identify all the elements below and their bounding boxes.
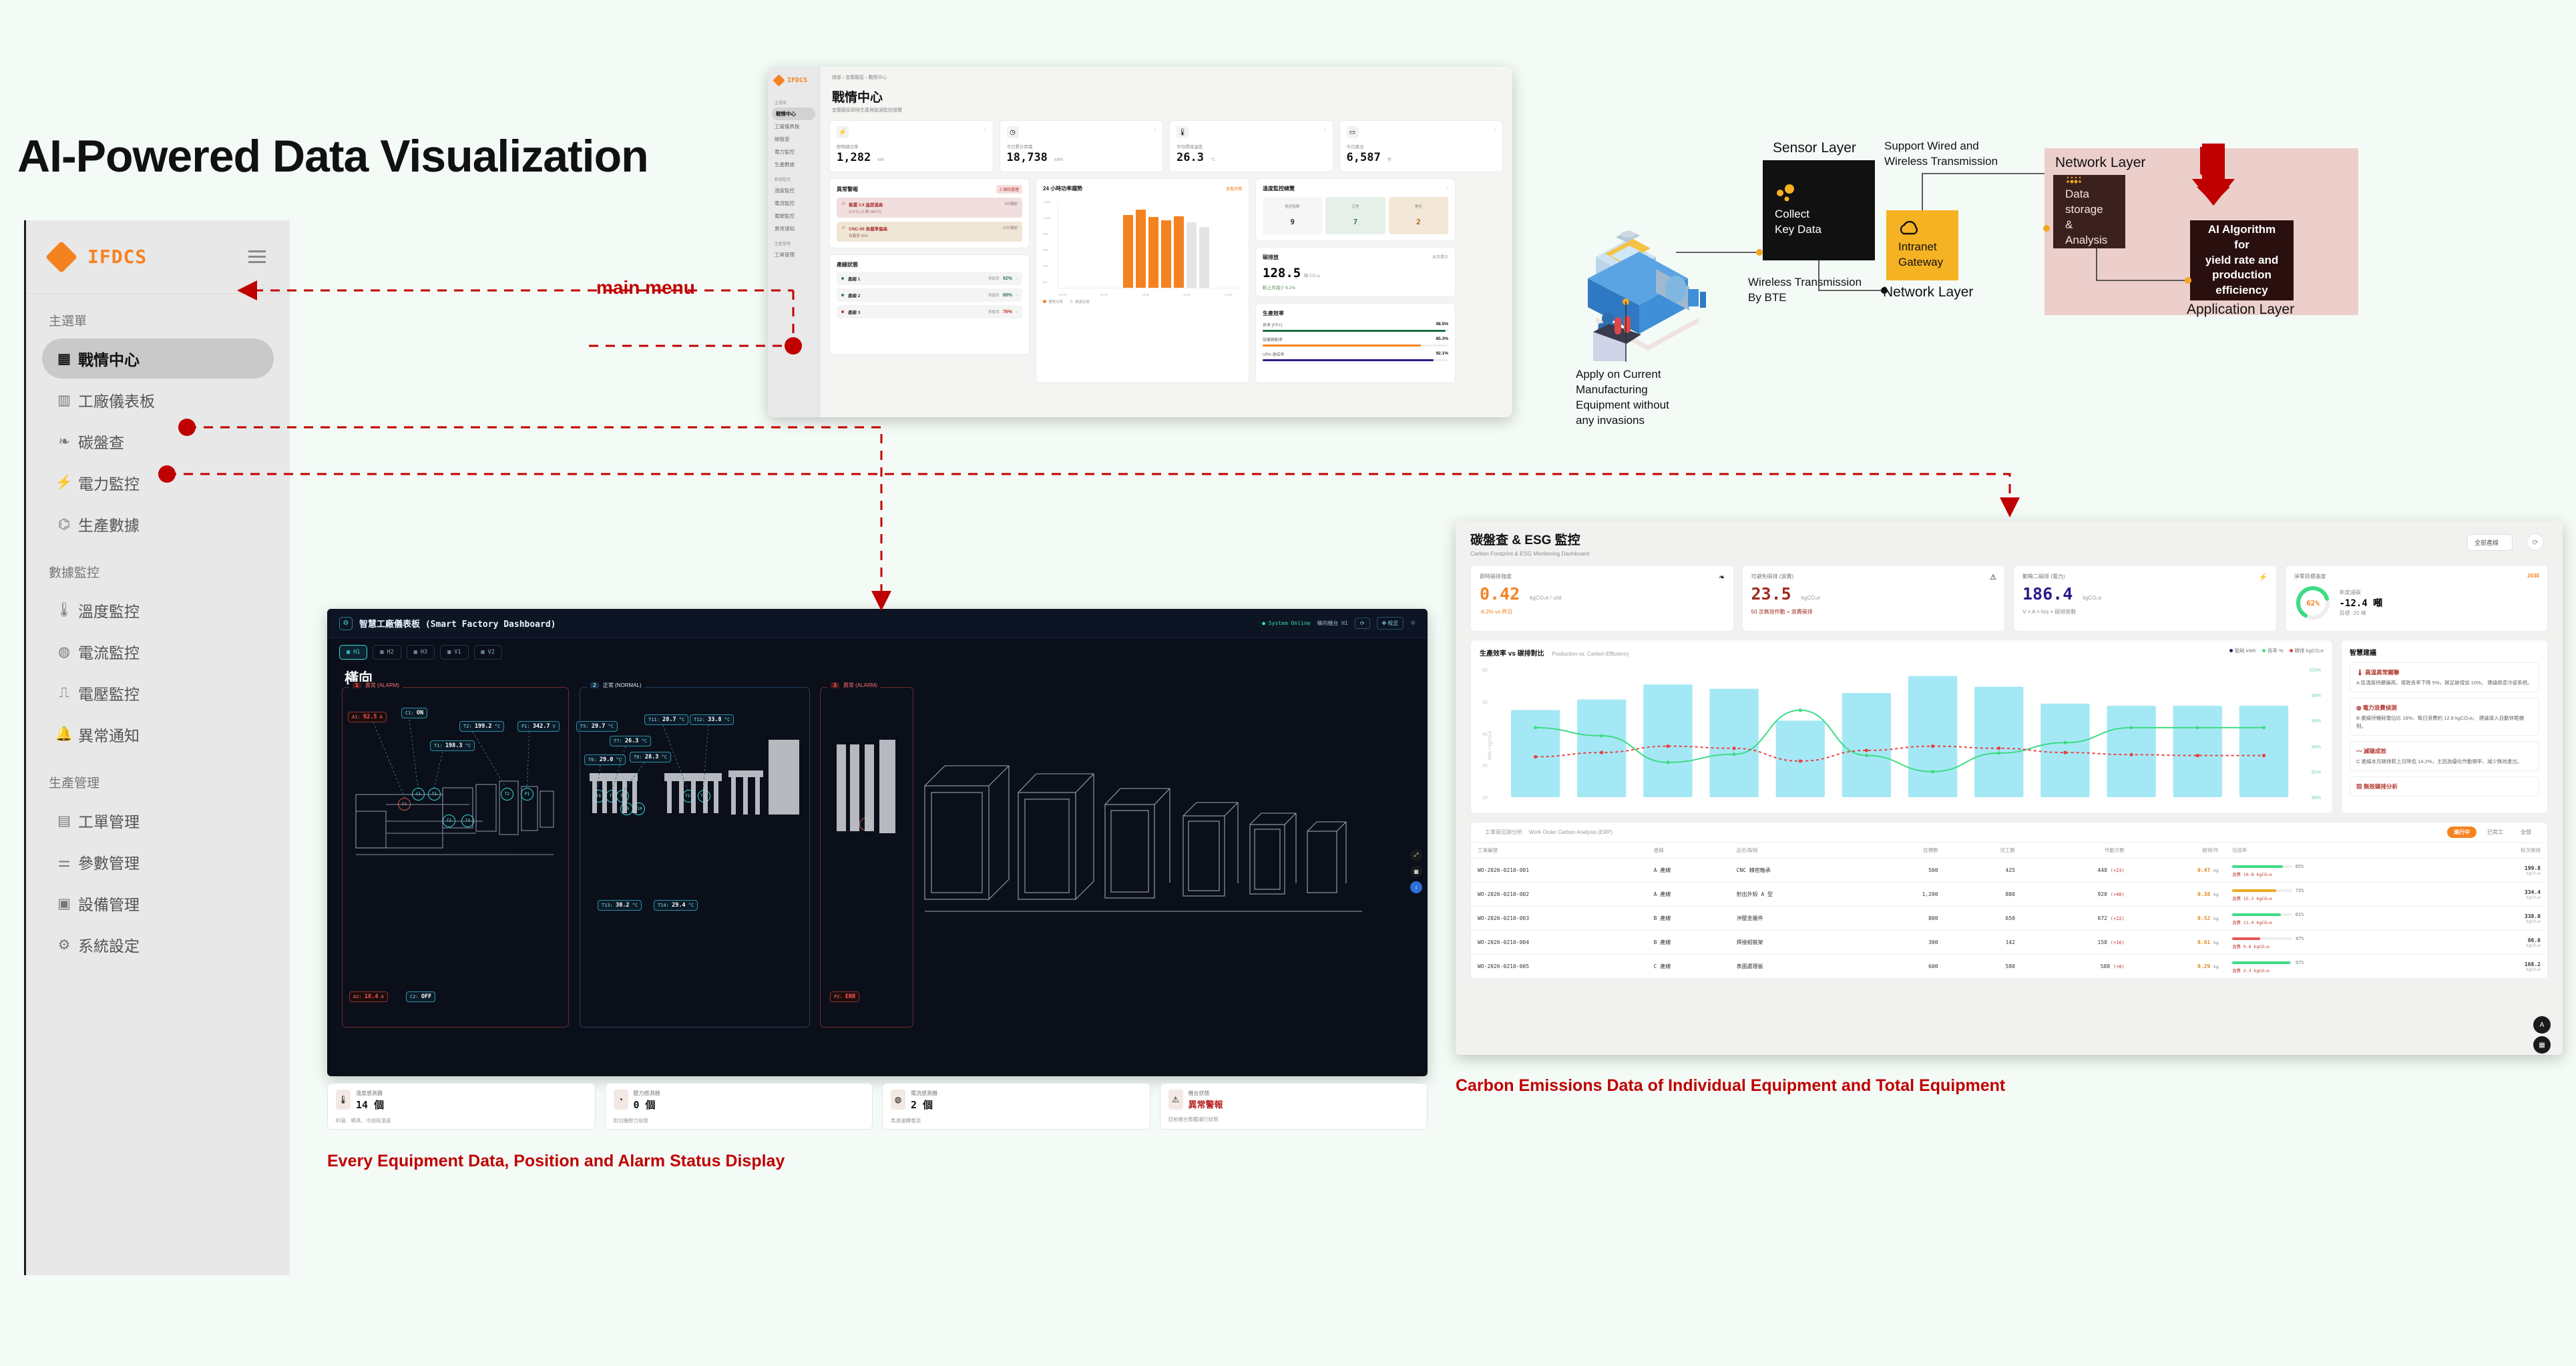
current-icon: ◍ [2356,704,2361,711]
mini-nav-item[interactable]: 工單管理 [768,248,819,261]
cell-done: 650 [1945,907,2022,931]
info-icon[interactable]: i [1410,881,1422,893]
stat-label: 溫度感測器 [356,1090,384,1097]
table-row[interactable]: WO-2026-0210-004B 產線焊接組裝架300142158 (+16)… [1471,931,2547,955]
cell-batch: 334.4kgCO₂e [2456,883,2547,907]
chart-point [2196,726,2199,729]
tab-label: H2 [387,649,394,656]
temp-cell: 警告2 [1389,197,1448,234]
kpi-card[interactable]: ◷›今日累計用電18,738 kWh [1000,120,1164,172]
chart-point [2129,726,2133,729]
carbon-chart-svg [1480,663,2324,807]
suggestions-title: 智慧建議 [2350,647,2539,657]
cell-line: A 產線 [1647,883,1730,907]
y-tick: 20 [1482,796,1488,801]
cell-target: 1,200 [1865,883,1945,907]
gear-icon[interactable]: ✲ [1410,620,1416,627]
cell-item: CNC 精密軸承 [1730,859,1865,883]
cell-wo: WO-2026-0210-001 [1471,859,1647,883]
smart-suggestions-card: 智慧建議 🌡 高溫異常關聯A 區溫度持續偏高，導致良率下降 5%，碳足跡增加 1… [2341,640,2548,814]
kpi-unit: kW [877,158,883,162]
cell-item: 沖壓金屬件 [1730,907,1865,931]
chevron-right-icon[interactable]: › [1016,276,1018,281]
line-status-title: 產線狀態 [837,261,1022,268]
cell-line: C 產線 [1647,955,1730,979]
chevron-right-icon[interactable]: › [1016,293,1018,298]
chart-bar [2239,706,2288,797]
annotation-equipment: Every Equipment Data, Position and Alarm… [327,1152,785,1171]
table-title: 工單碳足跡分析 [1485,829,1522,835]
mini-nav-item[interactable]: 生產數據 [768,158,819,171]
cell-line: B 產線 [1647,931,1730,955]
breadcrumb: 總部 › 宜蘭廠區 › 戰情中心 [829,67,1503,81]
mini-nav-item[interactable]: 電力監控 [768,146,819,158]
thermometer-icon: 🌡 [2356,669,2364,676]
chevron-right-icon[interactable]: › [984,126,986,138]
kpi-value: 1,282 kW [837,151,986,164]
kpi-value: 26.3 ℃ [1176,151,1326,164]
mini-nav-item[interactable]: 溫度監控 [768,184,819,197]
table-column-header: 產線 [1647,843,1730,859]
calibrate-button[interactable]: ✥ 校正 [1377,617,1404,630]
kpi-unit: kgCO₂e [1801,595,1820,601]
kpi-foot: V × A × hrs × 碳排係數 [2022,608,2268,616]
tab-label: V1 [454,649,461,656]
carbon-kpi-card[interactable]: 範疇二碳排 (電力)⚡186.4 kgCO₂eV × A × hrs × 碳排係… [2013,565,2277,632]
suggestion-title: 🌡 高溫異常關聯 [2356,668,2533,676]
x-tick: 12:00 [1142,293,1149,296]
chevron-right-icon[interactable]: › [1016,310,1018,314]
y-tick: 300 [1043,264,1048,268]
mini-nav-item[interactable]: 工廠儀表板 [768,120,819,133]
tab-label: H3 [421,649,427,656]
line-value: 92% [1003,276,1012,281]
carbon-subtitle: Carbon Footprint & ESG Monitoring Dashbo… [1470,550,2548,557]
cell-batch: 338.0kgCO₂e [2456,907,2547,931]
plug-icon: ⎍ [50,685,78,701]
machine-tab-V1[interactable]: ▦V1 [440,645,468,660]
bolt-icon: ⚡ [50,475,78,491]
chevron-right-icon[interactable]: › [1446,185,1448,192]
table-column-header: 作動次數 [2022,843,2131,859]
diagram-connectors [1569,154,2564,454]
chevron-right-icon[interactable]: › [1494,126,1496,138]
table-filters: 進行中已完工全部 [2443,829,2538,836]
sidebar-section-title: 主選單 [26,294,290,337]
leaf-icon: ❧ [50,433,78,450]
kpi-card[interactable]: ⚡›即時總功率1,282 kW [829,120,994,172]
x-tick: 24:00 [1225,293,1232,296]
legend-item: 實際功率 [1043,299,1063,304]
efficiency-row: 設備稼動率85.3% [1263,336,1448,347]
war-room-dashboard-screenshot[interactable]: IFDCS 主選單戰情中心工廠儀表板碳盤查電力監控生產數據數據監控溫度監控電流監… [768,67,1512,417]
y-axis-label: kWh / kgCO₂e [1488,730,1493,760]
mini-nav-item[interactable]: 電流監控 [768,197,819,210]
suggestion-item[interactable]: ▨ 無效碳排分析 [2350,776,2539,796]
chart-bar [1643,684,1692,797]
power-trend-chart-card: 24 小時功率趨勢 查看詳情 1,6001,200900600300kW00:0… [1036,178,1249,383]
chart-point [1931,770,1934,773]
mini-nav-item[interactable]: 電壓監控 [768,210,819,222]
kpi-label: 今日累計用電 [1007,143,1156,150]
suggestion-title: 〰 減碳成效 [2356,747,2533,755]
expand-icon[interactable]: ⤢ [1410,849,1422,861]
carbon-unit: 噸 CO₂e [1304,274,1320,278]
sidebar-item-2-0[interactable]: ❧碳盤查 [42,421,274,461]
dashboard-title: 戰情中心 [832,87,1503,105]
sidebar-item-0-1[interactable]: 🌡溫度監控 [42,590,274,630]
mini-brand: IFDCS [768,67,819,94]
x-tick: 00:00 [1059,293,1066,296]
sidebar-item-label: 溫度監控 [78,599,140,622]
cell-batch: 168.2kgCO₂e [2456,955,2547,979]
sensor-summary-cards: 🌡溫度感測器14 個料管、模具、冷卻段溫度◔壓力感測器0 個射出機壓力狀態◍電流… [327,1083,1428,1130]
work-order-table-card: 工單碳足跡分析 Work Order Carbon Analysis (ERP)… [1470,822,2548,979]
carbon-kpi-card[interactable]: 可避免碳排 (浪費)⚠23.5 kgCO₂e50 次無效作動 = 浪費碳排 [1742,565,2006,632]
y-tick: 1,600 [1043,200,1050,204]
machine-tab-H1[interactable]: ▦H1 [339,645,367,660]
cell-line: A 產線 [1647,859,1730,883]
kpi-card[interactable]: 🌡›平均環境溫度26.3 ℃ [1169,120,1333,172]
suggestion-item[interactable]: 🌡 高溫異常關聯A 區溫度持續偏高，導致良率下降 5%，碳足跡增加 10%。 建… [2350,662,2539,692]
efficiency-label: 良率 (FPY) [1263,322,1282,328]
font-size-icon[interactable]: A [2533,1016,2551,1034]
carbon-card: 碳排放 本月累計 128.5 噸 CO₂e 較上月減少 8.2% [1255,247,1456,297]
sidebar-header: IFDCS [26,220,290,294]
sidebar-item-label: 系統設定 [78,933,140,956]
carbon-kpi-card[interactable]: 淨零目標進度203062%年度減碳-12.4 噸目標 -20 噸 [2285,565,2549,632]
machine-tab-H3[interactable]: ▦H3 [407,645,435,660]
chevron-right-icon[interactable]: › [1324,126,1326,138]
kpi-sub-foot: 目標 -20 噸 [2340,610,2383,617]
legend-item: 碳排 kgCO₂e [2290,648,2324,654]
alarm-time: 12分鐘前 [1002,225,1018,238]
refresh-icon[interactable]: ⟳ [1355,618,1370,629]
chart-subtitle: Production vs. Carbon Efficiency [1552,651,1629,657]
efficiency-value: 85.3% [1436,336,1448,343]
kpi-label: 可避免碳排 (浪費) [1751,573,1996,580]
cell-wo: WO-2026-0210-004 [1471,931,1647,955]
efficiency-value: 98.5% [1436,322,1448,328]
cell-acts: 672 (+22) [2022,907,2131,931]
kpi-label: 範疇二碳排 (電力) [2022,573,2268,580]
smart-factory-dashboard-screenshot[interactable]: ⚙ 智慧工廠儀表板 (Smart Factory Dashboard) ● Sy… [327,609,1428,1076]
kpi-sub-value: -12.4 噸 [2340,596,2383,610]
grid-icon: ▦ [447,649,451,656]
efficiency-card: 生產效率 良率 (FPY)98.5%設備稼動率85.3%UPH 達成率92.1% [1255,303,1456,383]
alarm-row[interactable]: ⚠裝置 C4 溫度過高272°C (上限 260°C)5分鐘前 [837,198,1022,218]
production-carbon-chart-card: 能耗 kWh良率 %碳排 kgCO₂e 生產效率 vs 碳排對比 Product… [1470,640,2333,814]
stat-footnote: 料管、模具、冷卻段溫度 [336,1117,587,1124]
tab-label: V2 [488,649,495,656]
stat-value: 異常警報 [1189,1098,1223,1110]
cell-progress: 73%浪費 15.2 kgCO₂e [2225,883,2456,907]
arrow-to-dark-dashboard [871,591,891,611]
refresh-icon[interactable]: ⟳ [2527,533,2544,551]
chart-point [1600,751,1603,754]
sidebar-item-3-1[interactable]: 🔔異常通知 [42,714,274,754]
chart-point [1997,751,2000,754]
sidebar-item-3-0[interactable]: ⚡電力監控 [42,463,274,503]
mini-sidebar: IFDCS 主選單戰情中心工廠儀表板碳盤查電力監控生產數據數據監控溫度監控電流監… [768,67,820,417]
chart-point [1997,746,2000,750]
temp-card-title: 溫度監控總覽 [1263,185,1295,192]
chart-point [2262,754,2266,757]
sensor-summary-card[interactable]: ◍電流感測器2 個馬達運轉電流 [882,1083,1150,1130]
cell-done: 580 [1945,955,2022,979]
chart-bar [1577,700,1626,797]
table-header: 工單碳足跡分析 Work Order Carbon Analysis (ERP)… [1471,823,2547,842]
equipment-panel-2[interactable]: 2 正常 (NORMAL) T6: 29.0 °C T7: 26.3 °C T8… [580,687,810,1028]
cell-batch: 199.8kgCO₂e [2456,859,2547,883]
stat-footnote: 馬達運轉電流 [891,1117,1142,1124]
annotation-carbon: Carbon Emissions Data of Individual Equi… [1456,1076,2005,1096]
tab-label: H1 [353,649,360,656]
carbon-card-title: 碳排放 [1263,254,1279,261]
table-filter-全部[interactable]: 全部 [2514,827,2538,838]
chart-point [1534,755,1537,758]
cell-target: 500 [1865,859,1945,883]
cell-wo: WO-2026-0210-002 [1471,883,1647,907]
robot-arm-icon: ⌬ [50,516,78,533]
grid-icon: ▦ [347,649,350,656]
chart-point [2063,741,2067,744]
production-line-row[interactable]: 產線 3稼動率76%› [837,305,1022,318]
suggestion-title: ▨ 無效碳排分析 [2356,782,2533,790]
svg-text:62%: 62% [2306,599,2320,608]
kpi-value: 23.5 kgCO₂e [1751,584,1996,604]
cell-per: 0.52 kg [2131,907,2225,931]
cell-per: 0.38 kg [2131,883,2225,907]
kpi-value: 0.42 kgCO₂e / unit [1480,584,1725,604]
chart-bar [2173,706,2222,797]
kpi-foot: 50 次無效作動 = 浪費碳排 [1751,608,1996,616]
carbon-esg-dashboard-screenshot[interactable]: 碳盤查 & ESG 監控 Carbon Footprint & ESG Moni… [1456,521,2563,1055]
status-dot [841,310,844,313]
kpi-value: 6,587 件 [1347,151,1496,164]
sidebar-item-label: 異常通知 [78,723,140,746]
sidebar-item-1-1[interactable]: ◍電流監控 [42,632,274,672]
sidebar-item-label: 生產數據 [78,513,140,535]
dark-header: ⚙ 智慧工廠儀表板 (Smart Factory Dashboard) ● Sy… [327,609,1428,638]
current-machine: 橫向機台 H1 [1317,620,1347,627]
kpi-card[interactable]: ▭›今日產出6,587 件 [1339,120,1504,172]
table-column-header: 完工數 [1945,843,2022,859]
y2-tick: 98% [2312,694,2321,698]
current-icon: ◍ [50,644,78,660]
carbon-kpi-card[interactable]: 即時碳排強度❧0.42 kgCO₂e / unit-8.2% vs 昨日 [1470,565,1734,632]
equipment-panel-1[interactable]: 1 異常 (ALARM) A1: 92.5 A C1: ON T1: 198.3… [342,687,569,1028]
mini-section-title: 主選單 [768,94,819,107]
chart-axes [1058,204,1242,288]
machine-tab-H2[interactable]: ▦H2 [373,645,401,660]
chevron-right-icon[interactable]: › [1154,126,1156,138]
cell-acts: 588 (+8) [2022,955,2131,979]
chart-legend: 實際功率預測功率 [1043,299,1242,304]
trend-icon: 〰 [2356,748,2362,754]
sidebar-item-label: 戰情中心 [78,347,140,370]
sidebar-item-3-2[interactable]: ⚙系統設定 [42,925,274,965]
thermometer-icon: 🌡 [336,1090,351,1110]
suggestion-body: A 區溫度持續偏高，導致良率下降 5%，碳足跡增加 10%。 建議檢查冷卻系統。 [2356,679,2533,686]
temp-overview-card: 溫度監控總覽 › 監控點數9正常7警告2 [1255,178,1456,241]
grid-icon: ▦ [414,649,417,656]
suggestion-item[interactable]: ◍ 電力浪費偵測B 產線待機耗電佔比 18%，每日浪費約 12.8 kgCO₂e… [2350,698,2539,736]
table-row[interactable]: WO-2026-0210-003B 產線沖壓金屬件800650672 (+22)… [1471,907,2547,931]
production-line-row[interactable]: 產線 1稼動率92%› [837,272,1022,285]
alarm-badge: 2 項待處理 [996,185,1022,194]
cell-item: 射出外殼 A 型 [1730,883,1865,907]
kpi-unit: kgCO₂e / unit [1530,595,1562,601]
stat-label: 壓力感測器 [634,1090,660,1097]
alarm-time: 5分鐘前 [1004,201,1018,214]
hamburger-menu-icon[interactable] [248,250,266,263]
thermometer-icon: 🌡 [50,602,78,618]
sidebar-item-label: 工廠儀表板 [78,389,155,411]
production-line-row[interactable]: 產線 2稼動率88%› [837,288,1022,302]
line-value: 76% [1003,310,1012,314]
sidebar-item-label: 工單管理 [78,809,140,832]
chart-point [2262,726,2266,729]
kpi-label: 淨零目標進度 [2294,573,2539,580]
carbon-header: 碳盤查 & ESG 監控 Carbon Footprint & ESG Moni… [1456,521,2563,557]
mini-nav-item[interactable]: 戰情中心 [772,107,815,120]
cell-item: 表面處理板 [1730,955,1865,979]
table-row[interactable]: WO-2026-0210-005C 產線表面處理板600580588 (+8)0… [1471,955,2547,979]
cell-line: B 產線 [1647,907,1730,931]
table-row[interactable]: WO-2026-0210-002A 產線射出外殼 A 型1,200880920 … [1471,883,2547,907]
table-column-header: 目標數 [1865,843,1945,859]
sidebar-item-2-1[interactable]: ⎍電壓監控 [42,673,274,713]
page-title: AI-Powered Data Visualization [17,130,648,182]
cell-target: 300 [1865,931,1945,955]
cell-target: 600 [1865,955,1945,979]
line-name: 產線 1 [848,275,860,282]
sidebar-item-label: 碳盤查 [78,430,124,453]
status-dot [841,277,844,280]
cell-item: 焊接組裝架 [1730,931,1865,955]
sidebar-item-label: 設備管理 [78,892,140,915]
table-column-header: 批次碳排 [2456,843,2547,859]
cell-wo: WO-2026-0210-003 [1471,907,1647,931]
suggestion-item[interactable]: 〰 減碳成效C 產線本月碳排較上月降低 14.2%，主因為優化作動頻率，減少無效… [2350,741,2539,771]
leaf-icon: ❧ [1719,573,1725,582]
stat-footnote: 射出機壓力狀態 [614,1117,865,1124]
brand-diamond-icon [45,240,77,272]
carbon-value: 128.5 [1263,266,1301,280]
line-name: 產線 2 [848,292,860,298]
grid-icon[interactable]: ▦ [1410,865,1422,877]
architecture-diagram: Apply on CurrentManufacturingEquipment w… [1569,154,2564,454]
main-sidebar: IFDCS 主選單▦戰情中心▥工廠儀表板❧碳盤查⚡電力監控⌬生產數據數據監控🌡溫… [24,220,290,1275]
sidebar-item-1-2[interactable]: ⚌參數管理 [42,842,274,882]
sidebar-item-1-0[interactable]: ▥工廠儀表板 [42,380,274,420]
mini-section-title: 數據監控 [768,171,819,184]
kpi-label: 即時碳排強度 [1480,573,1725,580]
y-tick: 1,200 [1043,216,1050,220]
dark-heading: 橫向 [345,668,1428,688]
kpi-label: 今日產出 [1347,143,1496,150]
chart-point [1666,760,1669,764]
sidebar-item-0-2[interactable]: ▤工單管理 [42,801,274,841]
equipment-panel-3[interactable]: 3 異常 (ALARM) P P2: ERR [820,687,913,1028]
kpi-row: ⚡›即時總功率1,282 kW◷›今日累計用電18,738 kWh🌡›平均環境溫… [829,120,1503,172]
sidebar-item-2-2[interactable]: ▣設備管理 [42,883,274,923]
thermometer-icon: 🌡 [1176,126,1189,138]
sidebar-item-label: 電流監控 [78,640,140,663]
table-row[interactable]: WO-2026-0210-001A 產線CNC 精密軸承500425448 (+… [1471,859,2547,883]
chart-bar [1709,689,1758,797]
chart-detail-link[interactable]: 查看詳情 [1226,186,1242,192]
cell-per: 0.47 kg [2131,859,2225,883]
y2-tick: 100% [2309,668,2321,673]
y-tick: 60 [1482,668,1488,673]
brand-diamond-icon [773,74,785,86]
alarm-sub: 負載率 95% [849,233,887,238]
dark-title: 智慧工廠儀表板 (Smart Factory Dashboard) [359,617,556,630]
suggestion-body: B 產線待機耗電佔比 18%，每日浪費約 12.8 kgCO₂e。 建議導入自動… [2356,714,2533,730]
y-tick: 600 [1043,248,1048,252]
grid-icon[interactable]: ▦ [2533,1036,2551,1054]
sensor-summary-card[interactable]: ⚠機台狀態異常警報目前機台整體運行狀態 [1160,1083,1428,1130]
table-filter-進行中[interactable]: 進行中 [2447,827,2477,838]
line-name: 產線 3 [848,308,860,315]
sidebar-item-4-0[interactable]: ⌬生產數據 [42,504,274,544]
table-column-header: 完成率 [2225,843,2456,859]
temp-cell-label: 警告 [1389,200,1448,213]
sensor-summary-card[interactable]: 🌡溫度感測器14 個料管、模具、冷卻段溫度 [327,1083,596,1130]
sensor-summary-card[interactable]: ◔壓力感測器0 個射出機壓力狀態 [605,1083,873,1130]
warning-icon: ⚠ [1168,1090,1183,1110]
mini-nav-item[interactable]: 異常通知 [768,222,819,235]
cell-batch: 86.6kgCO₂e [2456,931,2547,955]
chart-bar [1511,710,1560,797]
bolt-icon: ⚡ [2259,573,2268,582]
chip-icon: ▣ [50,895,78,912]
cell-done: 142 [1945,931,2022,955]
efficiency-title: 生產效率 [1263,310,1448,317]
status-dot [841,294,844,296]
cell-target: 800 [1865,907,1945,931]
cell-progress: 81%浪費 11.4 kgCO₂e [2225,907,2456,931]
metric-label: 稼動率 [988,309,1000,314]
bell-icon: 🔔 [50,726,78,742]
line-filter-select[interactable]: 全部產線 [2467,534,2513,551]
temp-cell: 正常7 [1325,197,1385,234]
chart-point [1732,752,1735,756]
chart-bar [1776,720,1825,797]
kpi-label: 平均環境溫度 [1176,143,1326,150]
sidebar-item-0-0[interactable]: ▦戰情中心 [42,338,274,379]
bolt-icon: ⚡ [837,126,849,138]
table-column-header: 工單編號 [1471,843,1647,859]
machine-tab-V2[interactable]: ▦V2 [474,645,502,660]
line-status-card: 產線狀態 產線 1稼動率92%›產線 2稼動率88%›產線 3稼動率76%› [829,254,1030,355]
mini-nav-item[interactable]: 碳盤查 [768,133,819,146]
table-filter-已完工[interactable]: 已完工 [2481,827,2510,838]
metric-label: 稼動率 [988,276,1000,281]
cell-acts: 158 (+16) [2022,931,2131,955]
alarm-row[interactable]: ⚠CNC-05 負載率偏高負載率 95%12分鐘前 [837,222,1022,242]
chart-point [1600,734,1603,737]
suggestion-title: ◍ 電力浪費偵測 [2356,704,2533,712]
brand-name: IFDCS [87,246,147,268]
stat-label: 電流感測器 [911,1090,937,1097]
chart-point [1865,748,1868,752]
carbon-period: 本月累計 [1432,254,1448,261]
cell-done: 425 [1945,859,2022,883]
chart-point [2063,751,2067,754]
